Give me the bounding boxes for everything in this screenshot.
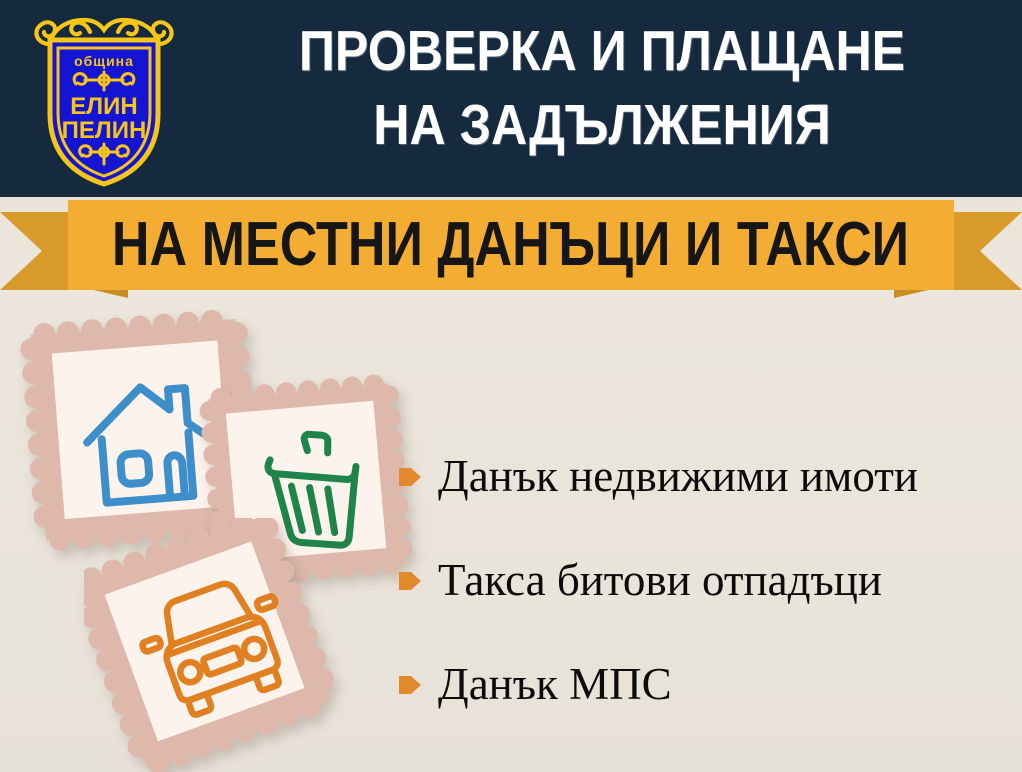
municipality-crest-icon: община ЕЛИН ПЕЛИН	[28, 10, 180, 188]
ribbon-center-panel: НА МЕСТНИ ДАНЪЦИ И ТАКСИ	[68, 200, 954, 290]
bullet-arrow-icon	[398, 568, 422, 594]
list-item-label: Данък МПС	[438, 659, 672, 709]
stamp-card-vehicle	[84, 518, 344, 772]
svg-text:ПЕЛИН: ПЕЛИН	[62, 117, 147, 144]
tax-type-list: Данък недвижими имоти Такса битови отпад…	[398, 424, 1018, 736]
svg-text:община: община	[74, 53, 134, 69]
list-item-label: Данък недвижими имоти	[438, 451, 918, 501]
bullet-arrow-icon	[398, 672, 422, 698]
header-bar: община ЕЛИН ПЕЛИН	[0, 0, 1022, 197]
ribbon-label: НА МЕСТНИ ДАНЪЦИ И ТАКСИ	[112, 214, 909, 276]
title-line-1: ПРОВЕРКА И ПЛАЩАНЕ	[245, 14, 960, 88]
svg-text:ЕЛИН: ЕЛИН	[70, 93, 137, 120]
stamp-card-group	[0, 290, 420, 772]
poster-canvas: община ЕЛИН ПЕЛИН	[0, 0, 1022, 772]
ribbon-banner: НА МЕСТНИ ДАНЪЦИ И ТАКСИ	[0, 196, 1022, 296]
bullet-arrow-icon	[398, 464, 422, 490]
title-line-2: НА ЗАДЪЛЖЕНИЯ	[245, 88, 960, 162]
list-item[interactable]: Данък недвижими имоти	[398, 424, 1018, 528]
list-item-label: Такса битови отпадъци	[438, 555, 882, 605]
list-item[interactable]: Такса битови отпадъци	[398, 528, 1018, 632]
poster-title: ПРОВЕРКА И ПЛАЩАНЕ НА ЗАДЪЛЖЕНИЯ	[245, 14, 960, 162]
list-item[interactable]: Данък МПС	[398, 632, 1018, 736]
